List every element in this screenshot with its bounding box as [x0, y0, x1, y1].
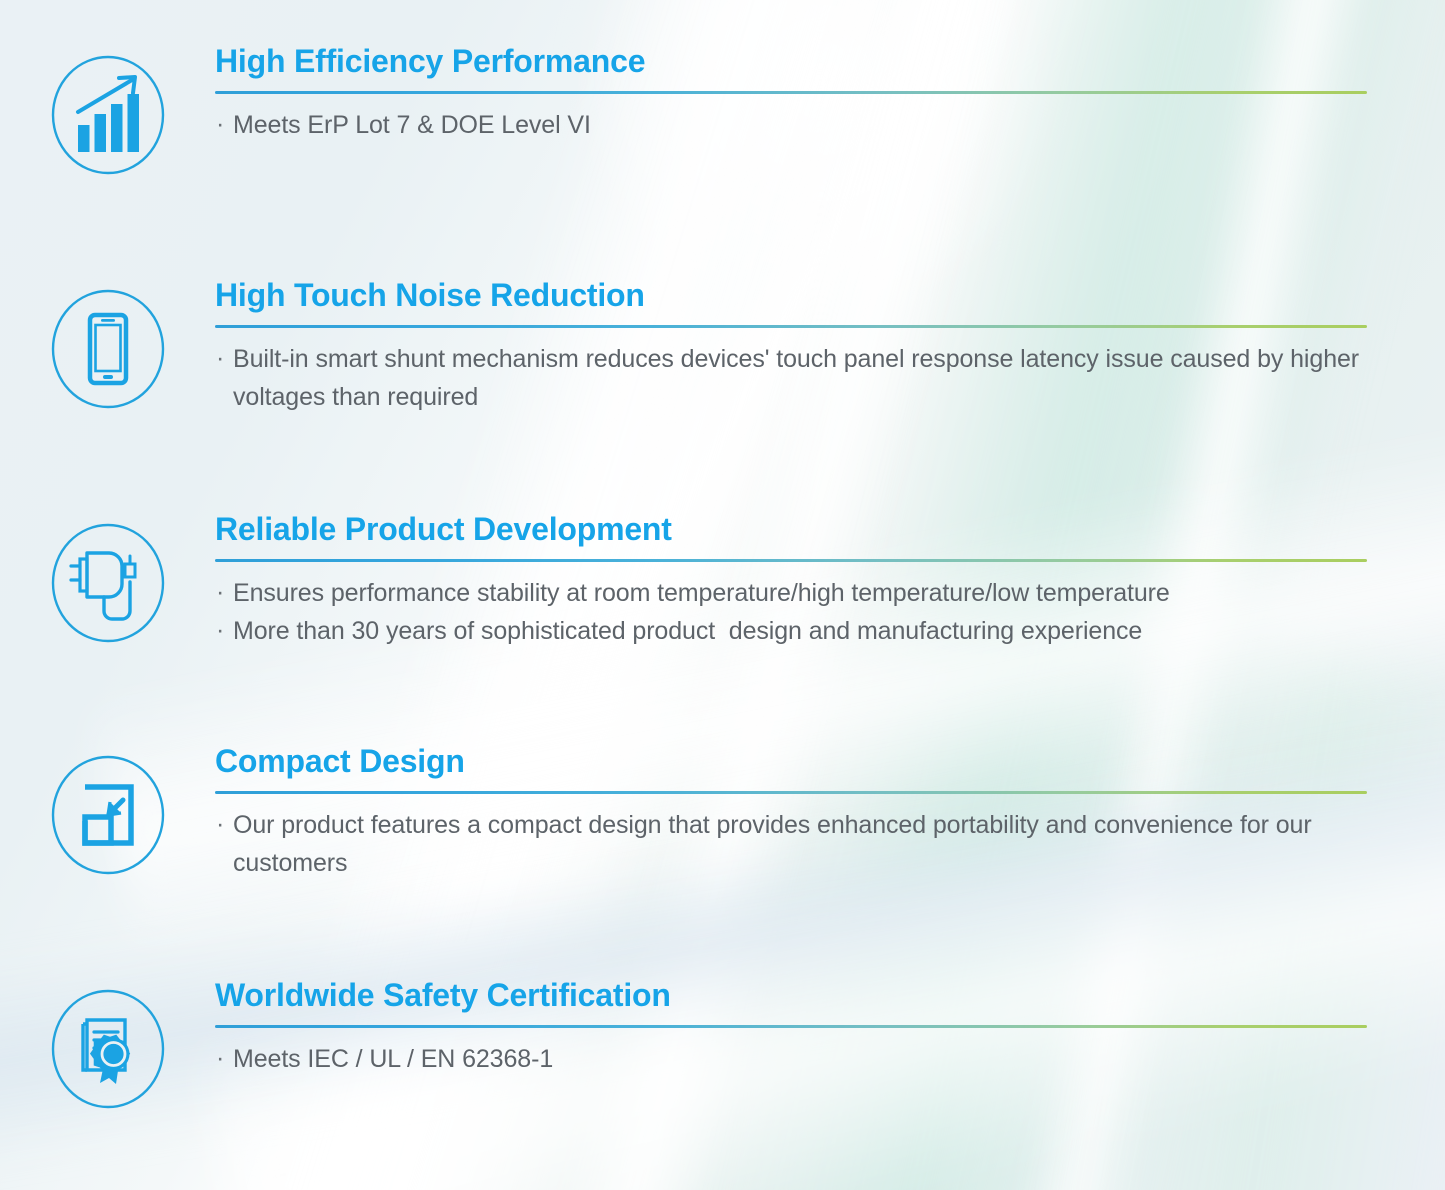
- compact-resize-icon: [49, 754, 167, 876]
- smartphone-icon: [49, 288, 167, 410]
- feature-divider: [215, 1025, 1367, 1028]
- feature-divider: [215, 559, 1367, 562]
- feature-icon-container: [0, 278, 215, 410]
- feature-title: Worldwide Safety Certification: [215, 978, 1367, 1013]
- feature-bullet-list: Built-in smart shunt mechanism reduces d…: [215, 340, 1367, 416]
- feature-divider: [215, 325, 1367, 328]
- feature-text-container: Reliable Product Development Ensures per…: [215, 512, 1445, 650]
- feature-text-container: Compact Design Our product features a co…: [215, 744, 1445, 882]
- feature-title: High Touch Noise Reduction: [215, 278, 1367, 313]
- feature-bullet: Ensures performance stability at room te…: [215, 574, 1367, 612]
- feature-icon-container: [0, 512, 215, 644]
- feature-divider: [215, 791, 1367, 794]
- feature-title: High Efficiency Performance: [215, 44, 1367, 79]
- feature-bullet: Meets IEC / UL / EN 62368-1: [215, 1040, 1367, 1078]
- feature-text-container: High Efficiency Performance Meets ErP Lo…: [215, 44, 1445, 144]
- feature-bullet-list: Meets IEC / UL / EN 62368-1: [215, 1040, 1367, 1078]
- feature-bullet: Meets ErP Lot 7 & DOE Level VI: [215, 106, 1367, 144]
- feature-item-high-touch-noise-reduction: High Touch Noise Reduction Built-in smar…: [0, 278, 1445, 416]
- feature-divider: [215, 91, 1367, 94]
- feature-item-worldwide-safety-certification: Worldwide Safety Certification Meets IEC…: [0, 978, 1445, 1110]
- feature-text-container: High Touch Noise Reduction Built-in smar…: [215, 278, 1445, 416]
- feature-text-container: Worldwide Safety Certification Meets IEC…: [215, 978, 1445, 1078]
- feature-item-high-efficiency-performance: High Efficiency Performance Meets ErP Lo…: [0, 44, 1445, 176]
- feature-bullet: More than 30 years of sophisticated prod…: [215, 612, 1367, 650]
- feature-icon-container: [0, 978, 215, 1110]
- feature-item-compact-design: Compact Design Our product features a co…: [0, 744, 1445, 882]
- certificate-award-icon: [49, 988, 167, 1110]
- feature-title: Reliable Product Development: [215, 512, 1367, 547]
- feature-icon-container: [0, 44, 215, 176]
- feature-item-reliable-product-development: Reliable Product Development Ensures per…: [0, 512, 1445, 650]
- feature-bullet: Our product features a compact design th…: [215, 806, 1367, 882]
- feature-bullet-list: Meets ErP Lot 7 & DOE Level VI: [215, 106, 1367, 144]
- feature-bullet-list: Ensures performance stability at room te…: [215, 574, 1367, 650]
- feature-bullet-list: Our product features a compact design th…: [215, 806, 1367, 882]
- bar-chart-growth-icon: [49, 54, 167, 176]
- power-adapter-icon: [49, 522, 167, 644]
- feature-icon-container: [0, 744, 215, 876]
- feature-bullet: Built-in smart shunt mechanism reduces d…: [215, 340, 1367, 416]
- feature-title: Compact Design: [215, 744, 1367, 779]
- feature-highlights-page: High Efficiency Performance Meets ErP Lo…: [0, 0, 1445, 1190]
